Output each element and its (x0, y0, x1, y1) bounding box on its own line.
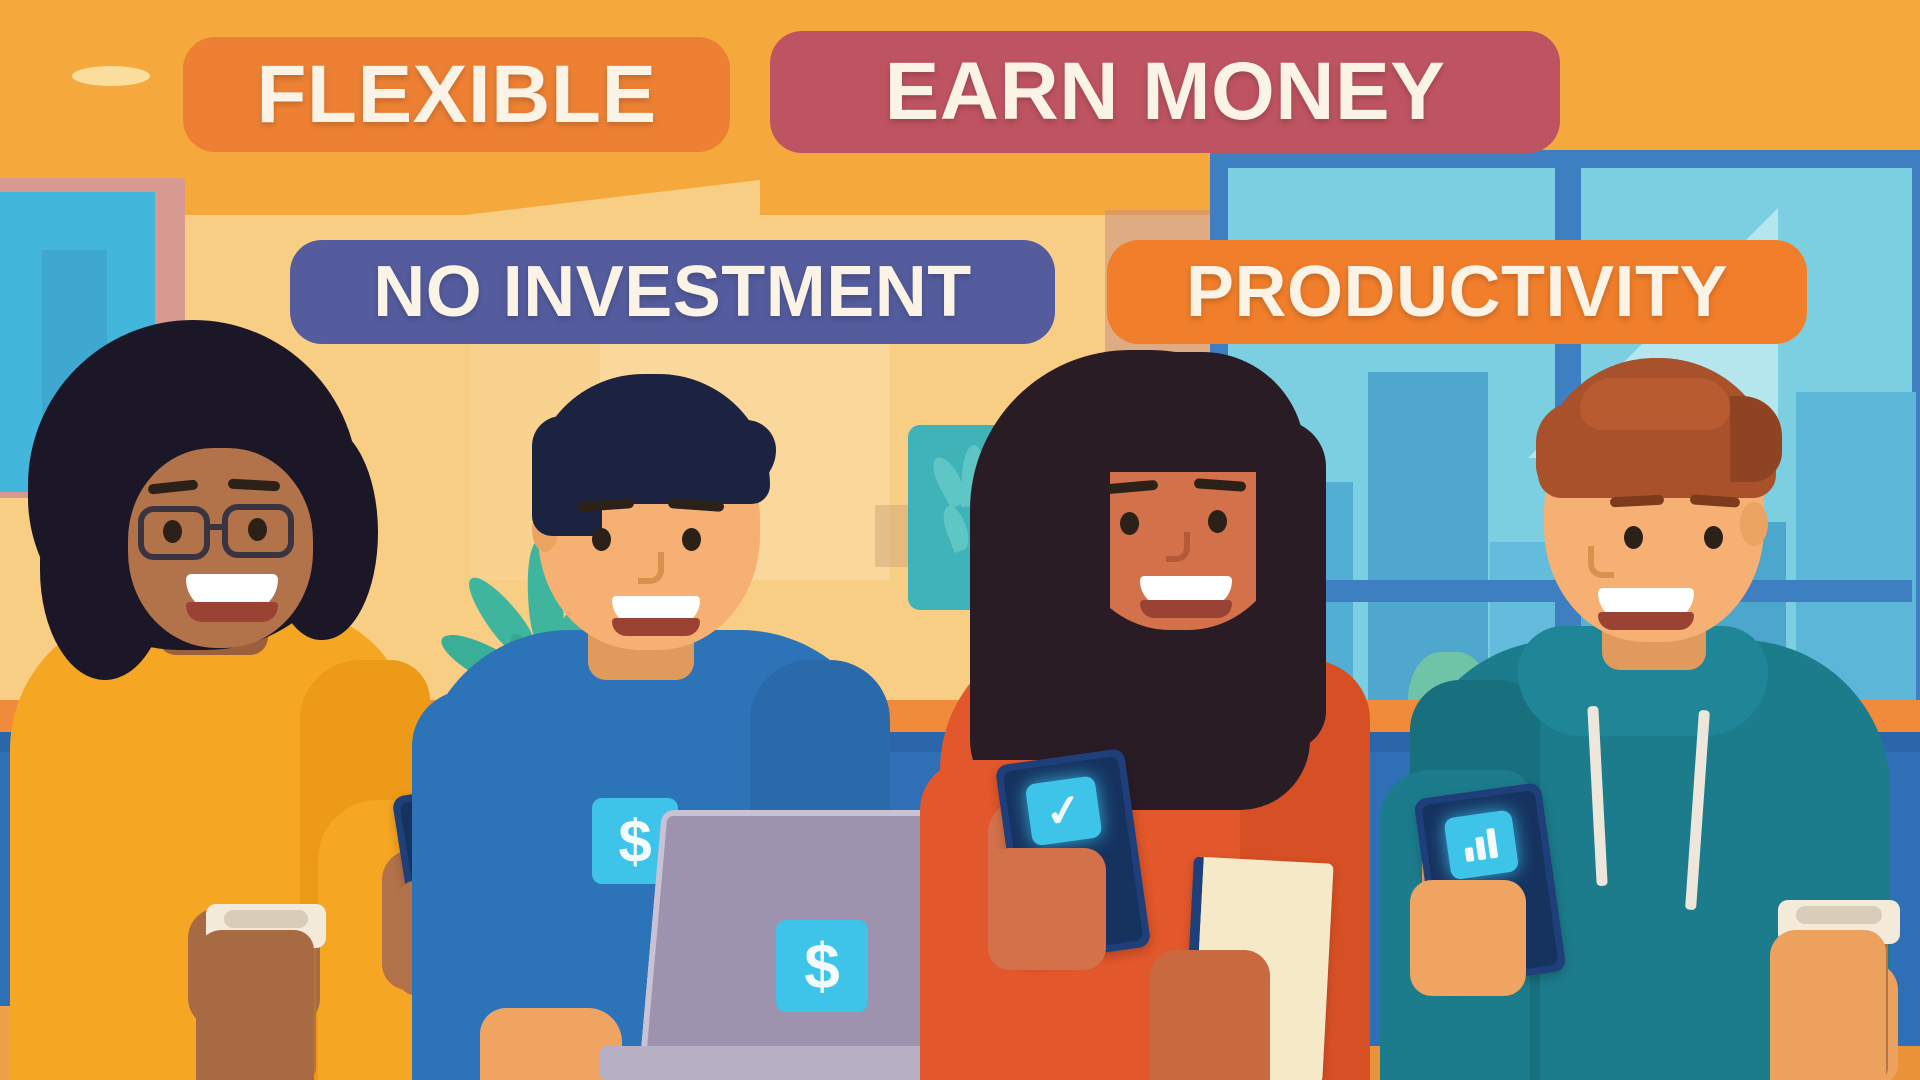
person-3-fingers-on-notebook (1150, 950, 1270, 1080)
person-3-eye-left (1120, 512, 1139, 535)
person-3-lower-lip (1140, 600, 1232, 618)
person-3-eye-right (1208, 510, 1227, 533)
person-4-ear (1740, 502, 1768, 546)
person-4-nose (1588, 546, 1614, 578)
person-2-eye-left (592, 528, 611, 551)
badge-productivity[interactable]: PRODUCTIVITY (1107, 240, 1807, 344)
cup-lid-rim (1796, 906, 1882, 924)
person-2-lower-lip (612, 618, 700, 636)
check-mark-icon[interactable]: ✓ (1025, 775, 1103, 846)
cup-lid-rim (224, 910, 308, 928)
badge-flexible[interactable]: FLEXIBLE (183, 37, 730, 152)
person-4-eye-right (1624, 526, 1643, 549)
person-4-hair-wave (1580, 378, 1730, 430)
person-1-lower-lip (186, 602, 278, 622)
poster-canvas: $ $ $ (0, 0, 1920, 1080)
person-2-eye-right (682, 528, 701, 551)
badge-no-investment[interactable]: NO INVESTMENT (290, 240, 1055, 344)
person-3-hair-right-strand (1256, 420, 1326, 750)
dollar-sign-sticker-icon: $ (776, 920, 868, 1012)
person-1-eye-right (248, 518, 267, 541)
badge-earn-money[interactable]: EARN MONEY (770, 31, 1560, 153)
person-3-fingers-on-phone (988, 848, 1106, 970)
person-1-fingers-on-cup (196, 930, 314, 1080)
glasses-bridge (208, 524, 224, 530)
oval-ceiling-light-icon (72, 66, 150, 86)
person-4-lower-lip (1598, 612, 1694, 630)
person-2-hair-sweep (532, 416, 602, 536)
person-4-eye-left (1704, 526, 1723, 549)
bar-chart-icon[interactable] (1443, 809, 1519, 880)
person-4-hair-tuft-right (1730, 396, 1782, 482)
person-1-eye-left (163, 520, 182, 543)
person-2-nose (638, 552, 664, 584)
person-4-fingers-on-phone (1410, 880, 1526, 996)
person-4-fingers-on-cup (1770, 930, 1886, 1080)
